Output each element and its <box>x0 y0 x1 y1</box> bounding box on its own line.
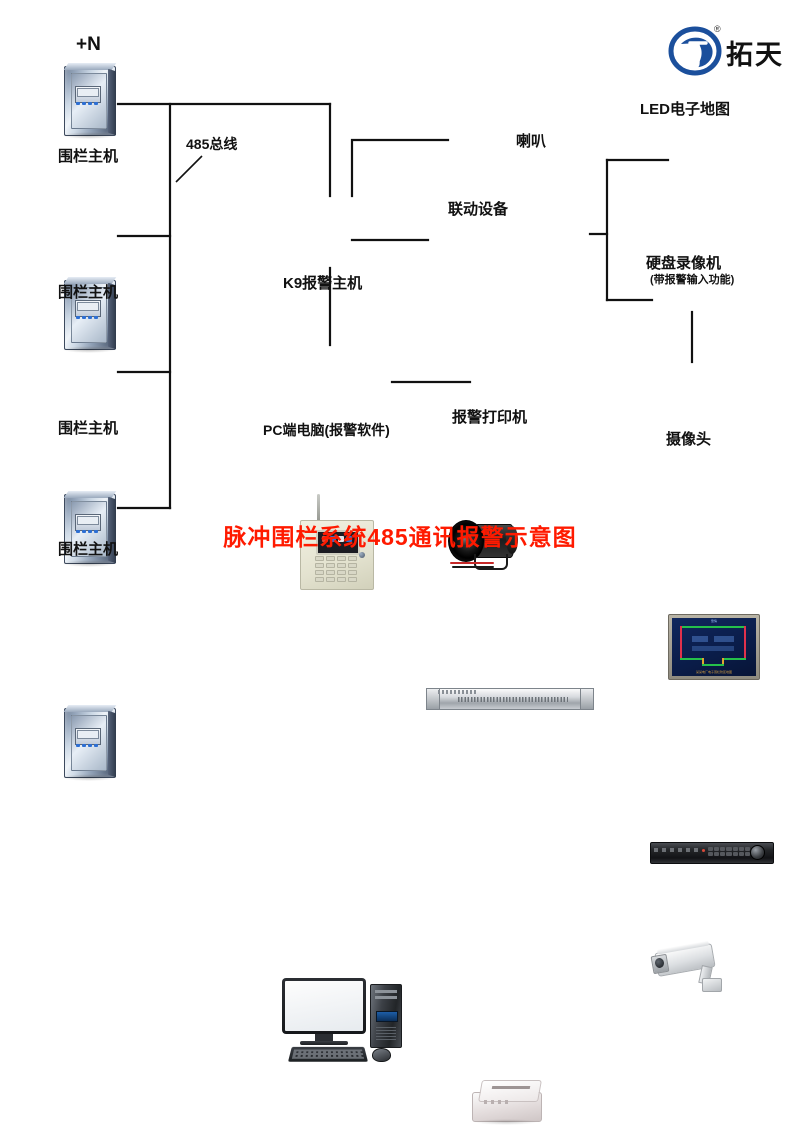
led-map-screen: 警情 某某电厂电子围栏防区地图 <box>672 618 756 676</box>
label-dvr: 硬盘录像机 <box>646 252 721 273</box>
label-pc: PC端电脑(报警软件) <box>263 420 390 440</box>
pc-mouse[interactable] <box>372 1048 391 1062</box>
device-dvr[interactable] <box>650 840 772 866</box>
fence-host-lcd <box>77 88 99 97</box>
device-printer[interactable] <box>470 1076 546 1126</box>
pc-front-display <box>376 1011 398 1022</box>
camera-wall-mount <box>702 978 722 992</box>
printer-top-cover <box>478 1080 542 1102</box>
device-linkage[interactable] <box>426 686 592 712</box>
led-map-caption: 警情 <box>711 619 717 623</box>
printer-buttons[interactable] <box>484 1100 510 1104</box>
fence-host-leds <box>76 744 98 748</box>
pc-keyboard[interactable] <box>288 1047 368 1062</box>
pc-tower <box>370 984 402 1048</box>
label-fence-host-1: 围栏主机 <box>58 145 118 166</box>
device-fence-host-4[interactable] <box>58 704 120 782</box>
fence-host-side <box>108 69 116 136</box>
plus-n-label: +N <box>76 34 101 56</box>
fence-host-side <box>108 711 116 778</box>
label-camera: 摄像头 <box>666 428 711 449</box>
fence-host-lcd <box>77 302 99 311</box>
wire-k9-to-speaker <box>352 140 448 196</box>
pc-vent <box>376 1027 396 1041</box>
fence-host-shadow <box>62 132 116 139</box>
label-linkage-device: 联动设备 <box>448 198 508 219</box>
speaker-wires <box>450 560 498 570</box>
label-dvr-note: (带报警输入功能) <box>650 271 734 287</box>
dvr-jog-dial[interactable] <box>750 845 765 860</box>
device-pc[interactable] <box>282 978 414 1064</box>
fence-host-leds <box>76 316 98 320</box>
bus-leader-line <box>172 152 212 186</box>
dvr-status-led <box>702 849 705 852</box>
brand-logo: ® 拓天 <box>668 26 788 78</box>
printer-shadow <box>474 1119 538 1125</box>
fence-host-lcd <box>77 730 99 739</box>
fence-host-leds <box>76 102 98 106</box>
pc-drive-bay-2 <box>375 996 397 999</box>
pc-monitor <box>282 978 366 1034</box>
label-led-map: LED电子地图 <box>640 98 730 119</box>
label-printer: 报警打印机 <box>452 406 527 427</box>
dvr-buttons[interactable] <box>708 847 750 856</box>
device-led-map[interactable]: 警情 某某电厂电子围栏防区地图 <box>668 614 760 680</box>
k9-port <box>359 552 365 558</box>
brand-name: 拓天 <box>726 33 784 72</box>
label-fence-host-3: 围栏主机 <box>58 417 118 438</box>
label-fence-host-2: 围栏主机 <box>58 281 118 302</box>
device-fence-host-1[interactable] <box>58 62 120 140</box>
linkage-ear-right <box>580 688 594 710</box>
label-k9-alarm-host: K9报警主机 <box>283 272 362 293</box>
pc-monitor-base <box>300 1041 348 1045</box>
k9-keypad[interactable] <box>315 556 357 582</box>
pc-drive-bay-1 <box>375 990 397 993</box>
led-map-footer: 某某电厂电子围栏防区地图 <box>696 670 732 674</box>
linkage-led-row <box>458 697 568 702</box>
dvr-face-text <box>654 848 700 852</box>
registered-mark: ® <box>714 24 721 34</box>
fence-host-shadow <box>62 560 116 567</box>
device-camera[interactable] <box>652 940 736 1000</box>
linkage-brand-strip <box>438 690 478 694</box>
label-speaker: 喇叭 <box>516 130 546 151</box>
label-485-bus: 485总线 <box>186 134 237 154</box>
diagram-title: 脉冲围栏系统485通讯报警示意图 <box>0 518 800 552</box>
diagram-canvas: ® 拓天 +N 围栏主机 围栏主机 围栏主机 <box>0 0 800 600</box>
connection-wires <box>0 0 800 600</box>
fence-host-shadow <box>62 346 116 353</box>
fence-host-shadow <box>62 774 116 781</box>
printer-paper-slot <box>492 1086 531 1089</box>
